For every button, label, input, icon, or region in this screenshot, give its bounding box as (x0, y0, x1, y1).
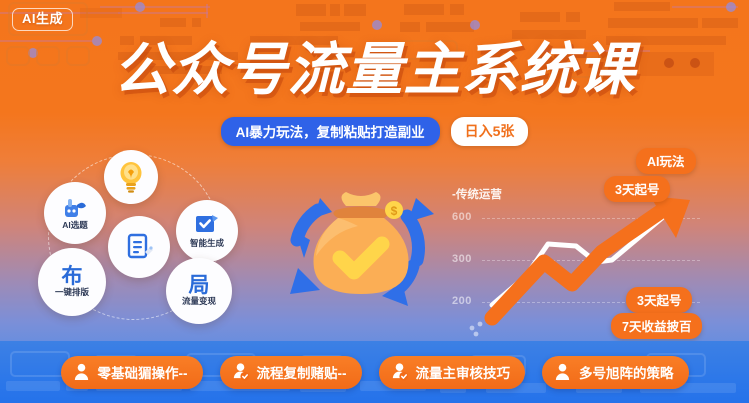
chart-tag-7day-income: 7天收益披百 (611, 313, 702, 339)
subtitle-row: AI暴力玩法，复制粘贴打造副业 日入5张 (0, 117, 749, 146)
diagram-node-center (108, 216, 170, 278)
diagram-node-layout-char: 布 (62, 266, 83, 287)
person-check-icon (390, 362, 409, 381)
diagram-node-idea (104, 150, 158, 204)
poster-canvas: AI生成 公众号流量主系统课 AI暴力玩法，复制粘贴打造副业 日入5张 (0, 0, 749, 403)
money-bag-illustration: $ (276, 176, 446, 322)
chart-tag-ai-method: AI玩法 (636, 148, 696, 174)
svg-text:$: $ (391, 204, 398, 218)
diagram-node-topic: AI选题 (44, 182, 106, 244)
person-check-icon (231, 362, 250, 381)
subtitle-main: AI暴力玩法，复制粘贴打造副业 (221, 117, 440, 146)
diagram-node-topic-label: AI选题 (62, 221, 88, 230)
document-edit-icon (124, 232, 154, 262)
check-doc-icon (195, 213, 220, 238)
lightbulb-icon (116, 161, 146, 193)
growth-chart: -传统运营 600 300 200 AI玩法 3天起号 3天起号 7天收益披百 (444, 150, 744, 340)
footer-button-3-label: 多号旭阵的策略 (579, 362, 674, 382)
subtitle-highlight: 日入5张 (451, 117, 529, 146)
diagram-node-generate-label: 智能生成 (190, 239, 224, 248)
footer-button-1-label: 流程复制赌贴-- (257, 362, 347, 382)
diagram-node-generate: 智能生成 (176, 200, 238, 262)
diagram-node-monetize: 局 流量变现 (166, 258, 232, 324)
ai-generated-badge: AI生成 (12, 8, 73, 31)
footer-button-0[interactable]: 零基础猸操作-- (61, 356, 203, 389)
footer-button-3[interactable]: 多号旭阵的策略 (542, 356, 689, 389)
person-icon (553, 362, 572, 381)
footer-button-2[interactable]: 流量主审核技巧 (379, 356, 526, 389)
ai-topic-icon (62, 196, 88, 220)
diagram-node-monetize-char: 局 (189, 275, 210, 296)
footer-button-1[interactable]: 流程复制赌贴-- (220, 356, 362, 389)
footer-button-row: 零基础猸操作-- 流程复制赌贴-- 流量主审核技巧 (0, 341, 749, 403)
workflow-diagram: AI选题 智能生成 布 一键排版 局 流量变现 (26, 148, 276, 330)
person-icon (72, 362, 91, 381)
footer-button-0-label: 零基础猸操作-- (98, 362, 188, 382)
diagram-node-monetize-label: 流量变现 (182, 297, 216, 306)
page-title: 公众号流量主系统课 (0, 42, 749, 99)
chart-tag-3day-bottom: 3天起号 (626, 287, 692, 313)
chart-tag-3day-top: 3天起号 (604, 176, 670, 202)
diagram-node-layout-label: 一键排版 (55, 288, 89, 297)
footer-button-2-label: 流量主审核技巧 (416, 362, 511, 382)
diagram-node-layout: 布 一键排版 (38, 248, 106, 316)
